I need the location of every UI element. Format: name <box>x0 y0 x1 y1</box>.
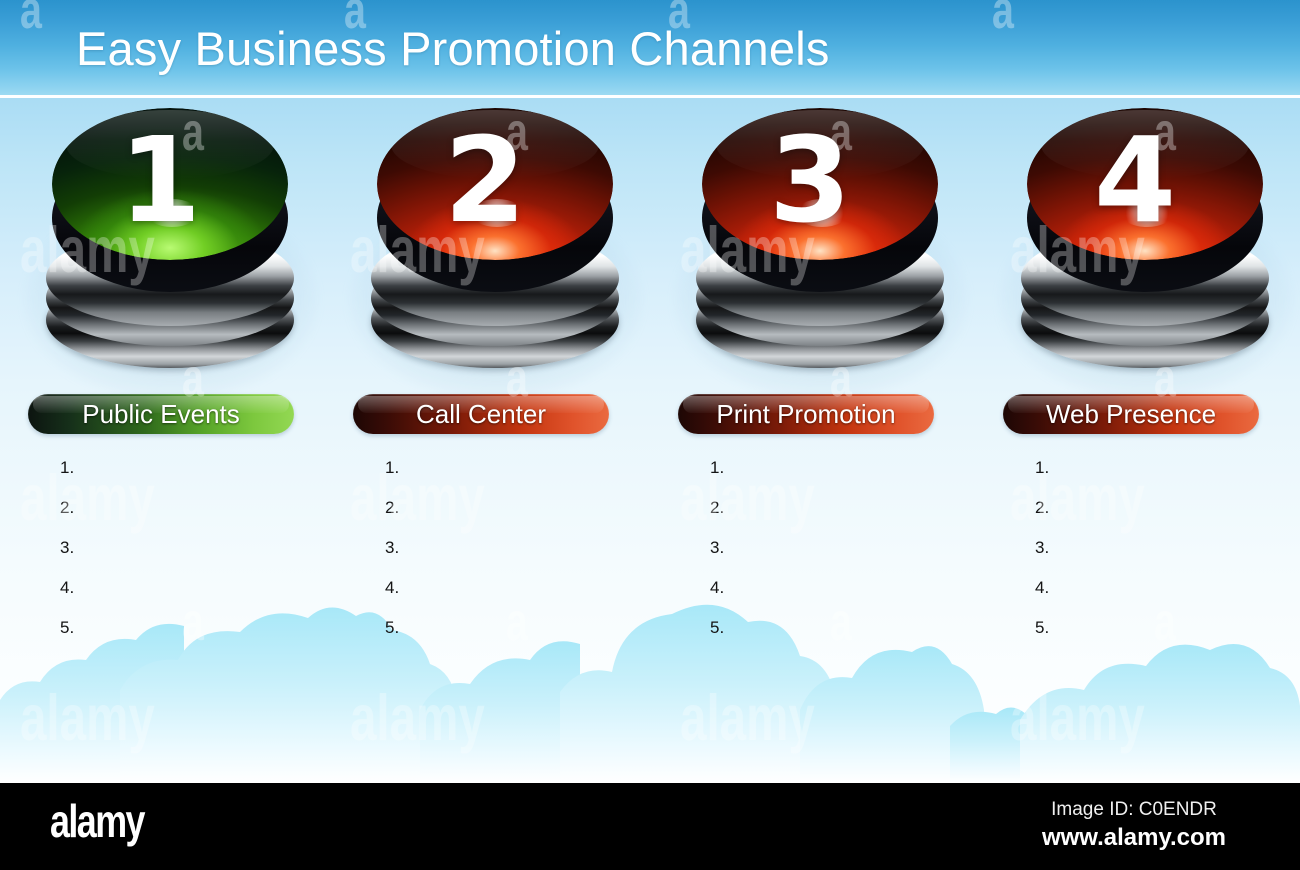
channel-list-2: 1. 2. 3. 4. 5. <box>385 448 625 648</box>
list-item[interactable]: 2. <box>385 488 625 528</box>
list-item[interactable]: 3. <box>710 528 950 568</box>
list-item[interactable]: 2. <box>60 488 300 528</box>
footer-bar: alamy Image ID: C0ENDR www.alamy.com <box>0 783 1300 870</box>
list-item[interactable]: 1. <box>710 448 950 488</box>
website-text: www.alamy.com <box>1004 823 1264 853</box>
button-number: 3 <box>692 108 928 260</box>
list-item[interactable]: 5. <box>710 608 950 648</box>
list-item[interactable]: 5. <box>60 608 300 648</box>
push-button-1[interactable]: 1 <box>42 108 298 370</box>
channel-label-pill-2[interactable]: Call Center <box>353 394 609 434</box>
list-item[interactable]: 3. <box>1035 528 1275 568</box>
list-item[interactable]: 3. <box>385 528 625 568</box>
footer-meta: Image ID: C0ENDR www.alamy.com <box>1004 797 1264 853</box>
list-item[interactable]: 4. <box>1035 568 1275 608</box>
illustration-stage: Easy Business Promotion Channels 1 Publi… <box>0 0 1300 783</box>
channel-label-pill-4[interactable]: Web Presence <box>1003 394 1259 434</box>
list-item[interactable]: 5. <box>385 608 625 648</box>
channel-list-3: 1. 2. 3. 4. 5. <box>710 448 950 648</box>
channel-column-3: 3 Print Promotion 1. 2. 3. 4. 5. <box>664 0 974 783</box>
alamy-logo: alamy <box>50 795 144 847</box>
list-item[interactable]: 2. <box>1035 488 1275 528</box>
button-number: 1 <box>42 108 278 260</box>
list-item[interactable]: 5. <box>1035 608 1275 648</box>
channel-label-text: Public Events <box>82 399 240 429</box>
channel-column-2: 2 Call Center 1. 2. 3. 4. 5. <box>339 0 649 783</box>
push-button-4[interactable]: 4 <box>1017 108 1273 370</box>
list-item[interactable]: 4. <box>60 568 300 608</box>
list-item[interactable]: 2. <box>710 488 950 528</box>
channel-label-text: Web Presence <box>1046 399 1216 429</box>
list-item[interactable]: 1. <box>1035 448 1275 488</box>
channel-label-pill-3[interactable]: Print Promotion <box>678 394 934 434</box>
button-number: 2 <box>367 108 603 260</box>
channel-label-text: Call Center <box>416 399 546 429</box>
push-button-2[interactable]: 2 <box>367 108 623 370</box>
channel-column-4: 4 Web Presence 1. 2. 3. 4. 5. <box>989 0 1299 783</box>
list-item[interactable]: 4. <box>385 568 625 608</box>
channel-label-pill-1[interactable]: Public Events <box>28 394 294 434</box>
push-button-3[interactable]: 3 <box>692 108 948 370</box>
channel-label-text: Print Promotion <box>716 399 895 429</box>
list-item[interactable]: 1. <box>60 448 300 488</box>
list-item[interactable]: 3. <box>60 528 300 568</box>
channel-list-4: 1. 2. 3. 4. 5. <box>1035 448 1275 648</box>
image-id-text: Image ID: C0ENDR <box>1004 797 1264 823</box>
list-item[interactable]: 4. <box>710 568 950 608</box>
button-number: 4 <box>1017 108 1253 260</box>
channel-column-1: 1 Public Events 1. 2. 3. 4. 5. <box>14 0 324 783</box>
list-item[interactable]: 1. <box>385 448 625 488</box>
channel-list-1: 1. 2. 3. 4. 5. <box>60 448 300 648</box>
